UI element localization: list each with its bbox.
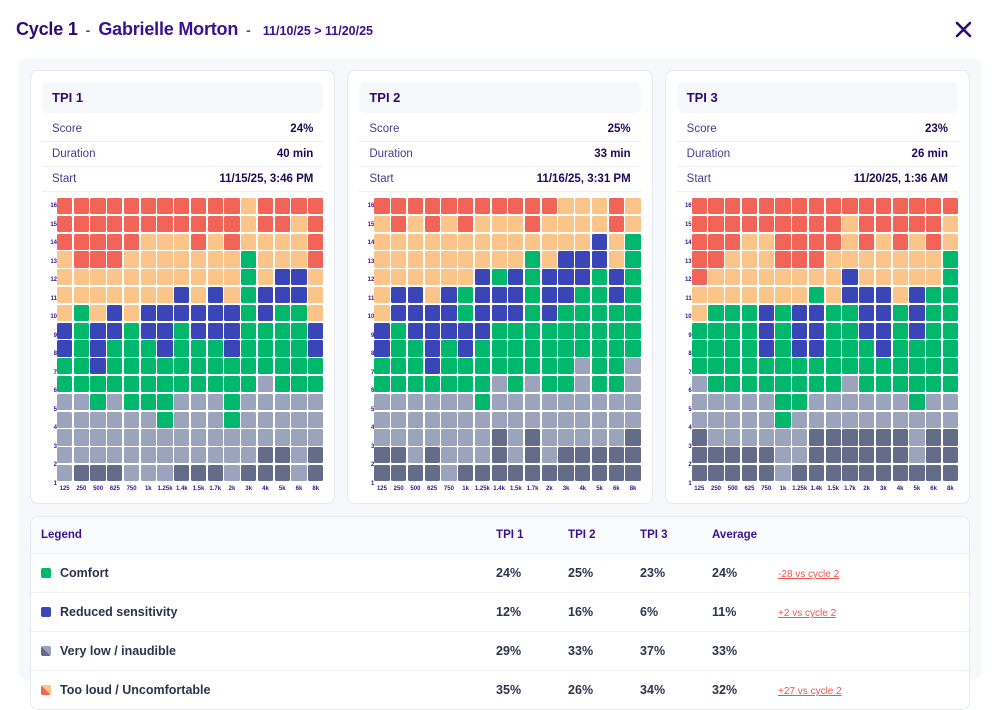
heat-cell [74, 429, 89, 445]
heat-cell [708, 447, 723, 463]
heat-cell [425, 305, 440, 321]
heat-cell [124, 447, 139, 463]
heat-cell [842, 429, 857, 445]
heat-cell [475, 251, 490, 267]
heat-cell [291, 323, 306, 339]
heat-cell [826, 394, 841, 410]
heat-cell [74, 340, 89, 356]
heat-cell [107, 429, 122, 445]
y-axis-tick: 9 [359, 328, 374, 344]
y-axis-tick: 15 [677, 217, 692, 233]
heat-cell [859, 287, 874, 303]
heat-cell [174, 394, 189, 410]
heat-cell [859, 216, 874, 232]
y-axis-tick: 6 [359, 383, 374, 399]
heat-cell [90, 198, 105, 214]
heat-cell [625, 216, 640, 232]
heat-cell [725, 305, 740, 321]
heat-cell [575, 447, 590, 463]
heat-cell [408, 323, 423, 339]
heat-cell [107, 447, 122, 463]
heat-cell [191, 429, 206, 445]
heat-cell [809, 394, 824, 410]
legend-delta-link[interactable]: -28 vs cycle 2 [778, 569, 839, 580]
heat-cell [425, 198, 440, 214]
heat-cell [542, 376, 557, 392]
y-axis-tick: 7 [359, 365, 374, 381]
heat-cell [826, 251, 841, 267]
y-axis-tick: 16 [42, 198, 57, 214]
heat-cell [893, 376, 908, 392]
heat-cell [374, 429, 389, 445]
heat-cell [57, 287, 72, 303]
heat-cell [708, 198, 723, 214]
heat-cell [157, 269, 172, 285]
heat-cell [224, 198, 239, 214]
heat-cell [191, 216, 206, 232]
heat-cell [625, 251, 640, 267]
heat-cell [725, 412, 740, 428]
heat-cell [224, 447, 239, 463]
heat-cell [74, 376, 89, 392]
heat-cell [759, 447, 774, 463]
heat-cell [859, 340, 874, 356]
heat-cell [492, 251, 507, 267]
tpi-chart-2-y-axis: 16151413121110987654321 [359, 198, 374, 492]
heat-cell [575, 412, 590, 428]
heat-cell [458, 269, 473, 285]
tpi-card-2-duration-value: 33 min [594, 148, 630, 160]
x-axis-tick: 8k [943, 486, 958, 492]
heat-cell [241, 429, 256, 445]
x-axis-tick: 2k [859, 486, 874, 492]
heat-cell [475, 358, 490, 374]
heat-cell [775, 376, 790, 392]
heat-cell [374, 394, 389, 410]
heat-cell [893, 234, 908, 250]
x-axis-tick: 1.25k [475, 486, 490, 492]
heat-cell [157, 465, 172, 481]
heat-cell [208, 305, 223, 321]
tpi-chart-2-grid [374, 198, 640, 481]
heat-cell [809, 216, 824, 232]
heat-cell [909, 234, 924, 250]
heat-cell [157, 358, 172, 374]
heat-cell [558, 465, 573, 481]
heat-cell [759, 287, 774, 303]
x-axis-tick: 500 [90, 486, 105, 492]
heat-cell [792, 429, 807, 445]
tpi-chart-3-y-axis: 16151413121110987654321 [677, 198, 692, 492]
heat-cell [241, 269, 256, 285]
heat-cell [708, 287, 723, 303]
heat-cell [575, 251, 590, 267]
heat-cell [74, 251, 89, 267]
legend-row: Reduced sensitivity12%16%6%11%+2 vs cycl… [31, 593, 969, 632]
heat-cell [174, 376, 189, 392]
heat-cell [458, 429, 473, 445]
y-axis-tick: 15 [359, 217, 374, 233]
heat-cell [374, 234, 389, 250]
heat-cell [558, 234, 573, 250]
heat-cell [107, 376, 122, 392]
heat-cell [575, 305, 590, 321]
heat-cell [492, 394, 507, 410]
heat-cell [625, 412, 640, 428]
heat-cell [759, 394, 774, 410]
heat-cell [943, 465, 958, 481]
heat-cell [708, 216, 723, 232]
heat-cell [792, 358, 807, 374]
heat-cell [625, 287, 640, 303]
heat-cell [308, 412, 323, 428]
heat-cell [943, 198, 958, 214]
heat-cell [809, 198, 824, 214]
heat-cell [943, 376, 958, 392]
heat-cell [742, 429, 757, 445]
heat-cell [458, 465, 473, 481]
heat-cell [775, 323, 790, 339]
heat-cell [107, 394, 122, 410]
heat-cell [859, 394, 874, 410]
x-axis-tick: 8k [308, 486, 323, 492]
heat-cell [542, 412, 557, 428]
heat-cell [57, 251, 72, 267]
heat-cell [909, 465, 924, 481]
heat-cell [74, 412, 89, 428]
heat-cell [391, 465, 406, 481]
heat-cell [525, 216, 540, 232]
heat-cell [425, 412, 440, 428]
heat-cell [208, 234, 223, 250]
heat-cell [141, 429, 156, 445]
y-axis-tick: 15 [42, 217, 57, 233]
heat-cell [275, 412, 290, 428]
tpi-card-2-title: TPI 2 [369, 90, 630, 105]
heat-cell [592, 358, 607, 374]
heat-cell [742, 358, 757, 374]
heat-cell [558, 251, 573, 267]
heat-cell [408, 465, 423, 481]
heat-cell [625, 358, 640, 374]
heat-cell [893, 269, 908, 285]
heat-cell [74, 287, 89, 303]
heat-cell [157, 447, 172, 463]
y-axis-tick: 8 [677, 346, 692, 362]
heat-cell [90, 358, 105, 374]
x-axis-tick: 125 [692, 486, 707, 492]
heat-cell [291, 429, 306, 445]
heat-cell [725, 465, 740, 481]
y-axis-tick: 11 [677, 291, 692, 307]
heat-cell [625, 394, 640, 410]
heat-cell [909, 305, 924, 321]
heat-cell [391, 412, 406, 428]
heat-cell [708, 394, 723, 410]
close-button[interactable] [948, 15, 978, 45]
heat-cell [725, 323, 740, 339]
tpi-card-3-duration-value: 26 min [912, 148, 948, 160]
heat-cell [425, 251, 440, 267]
heat-cell [525, 198, 540, 214]
heat-cell [909, 358, 924, 374]
heat-cell [893, 394, 908, 410]
heat-cell [258, 429, 273, 445]
heat-cell [525, 447, 540, 463]
heat-cell [926, 358, 941, 374]
tpi-card-3-start-row: Start 11/20/25, 1:36 AM [677, 167, 958, 192]
heat-cell [692, 198, 707, 214]
heat-cell [708, 305, 723, 321]
y-axis-tick: 7 [677, 365, 692, 381]
y-axis-tick: 3 [677, 439, 692, 455]
heat-cell [258, 234, 273, 250]
legend-delta-link[interactable]: +27 vs cycle 2 [778, 686, 842, 697]
tpi-cards-row: TPI 1 Score 24% Duration 40 min Start 11… [18, 58, 982, 504]
heat-cell [141, 394, 156, 410]
heat-cell [542, 305, 557, 321]
heat-cell [926, 394, 941, 410]
x-axis-tick: 5k [275, 486, 290, 492]
heat-cell [809, 251, 824, 267]
heat-cell [291, 234, 306, 250]
heat-cell [876, 287, 891, 303]
legend-col-tpi2: TPI 2 [558, 517, 630, 554]
heat-cell [124, 394, 139, 410]
heat-cell [291, 412, 306, 428]
heat-cell [893, 340, 908, 356]
heat-cell [909, 216, 924, 232]
legend-delta-link[interactable]: +2 vs cycle 2 [778, 608, 836, 619]
heat-cell [708, 251, 723, 267]
heat-cell [141, 376, 156, 392]
heat-cell [157, 234, 172, 250]
legend-value-tpi3: 6% [630, 593, 702, 632]
heat-cell [208, 447, 223, 463]
heat-cell [592, 269, 607, 285]
heat-cell [558, 358, 573, 374]
heat-cell [107, 216, 122, 232]
heat-cell [291, 269, 306, 285]
tpi-card-1: TPI 1 Score 24% Duration 40 min Start 11… [30, 70, 335, 504]
heat-cell [876, 447, 891, 463]
heat-cell [859, 376, 874, 392]
heat-cell [558, 376, 573, 392]
y-axis-tick: 14 [359, 235, 374, 251]
heat-cell [542, 251, 557, 267]
x-axis-tick: 1.4k [809, 486, 824, 492]
x-axis-tick: 8k [625, 486, 640, 492]
heat-cell [525, 340, 540, 356]
tpi-card-1-title: TPI 1 [52, 90, 313, 105]
heat-cell [826, 340, 841, 356]
tpi-card-3-score-row: Score 23% [677, 117, 958, 142]
heat-cell [475, 287, 490, 303]
heat-cell [826, 429, 841, 445]
x-axis-tick: 1.4k [174, 486, 189, 492]
legend-delta-cell [768, 632, 969, 671]
heat-cell [508, 447, 523, 463]
heat-cell [876, 340, 891, 356]
heat-cell [458, 358, 473, 374]
heat-cell [124, 216, 139, 232]
heat-cell [525, 465, 540, 481]
legend-delta-cell: +27 vs cycle 2 [768, 671, 969, 710]
heat-cell [692, 412, 707, 428]
heat-cell [174, 216, 189, 232]
heat-cell [275, 429, 290, 445]
heat-cell [842, 323, 857, 339]
heat-cell [57, 216, 72, 232]
heat-cell [508, 216, 523, 232]
heat-cell [291, 305, 306, 321]
heat-cell [208, 429, 223, 445]
heat-cell [90, 251, 105, 267]
heat-cell [308, 429, 323, 445]
heat-cell [708, 340, 723, 356]
heat-cell [308, 198, 323, 214]
heat-cell [291, 287, 306, 303]
heat-cell [826, 447, 841, 463]
heat-cell [708, 269, 723, 285]
heat-cell [157, 323, 172, 339]
heat-cell [57, 305, 72, 321]
heat-cell [157, 412, 172, 428]
heat-cell [943, 305, 958, 321]
heat-cell [625, 323, 640, 339]
y-axis-tick: 12 [42, 272, 57, 288]
heat-cell [759, 269, 774, 285]
heat-cell [374, 465, 389, 481]
heat-cell [592, 394, 607, 410]
heat-cell [74, 323, 89, 339]
heat-cell [157, 376, 172, 392]
x-axis-tick: 125 [374, 486, 389, 492]
title-date-range: 11/10/25 > 11/20/25 [263, 24, 373, 38]
heat-cell [775, 429, 790, 445]
heat-cell [107, 269, 122, 285]
heat-cell [107, 305, 122, 321]
heat-cell [441, 216, 456, 232]
legend-value-tpi1: 24% [486, 554, 558, 593]
heat-cell [742, 216, 757, 232]
heat-cell [575, 340, 590, 356]
heat-cell [809, 429, 824, 445]
heat-cell [542, 198, 557, 214]
x-axis-tick: 1.25k [157, 486, 172, 492]
x-axis-tick: 4k [575, 486, 590, 492]
heat-cell [742, 447, 757, 463]
y-axis-tick: 12 [359, 272, 374, 288]
heat-cell [775, 251, 790, 267]
heat-cell [174, 198, 189, 214]
heat-cell [943, 429, 958, 445]
title-patient-name: Gabrielle Morton [98, 19, 238, 40]
heat-cell [441, 465, 456, 481]
heat-cell [258, 376, 273, 392]
heat-cell [191, 447, 206, 463]
heat-cell [475, 234, 490, 250]
heat-cell [592, 216, 607, 232]
close-icon [954, 20, 973, 39]
heat-cell [542, 234, 557, 250]
heat-cell [792, 287, 807, 303]
heat-cell [90, 412, 105, 428]
heat-cell [57, 323, 72, 339]
tpi-card-2-score-row: Score 25% [359, 117, 640, 142]
heat-cell [893, 251, 908, 267]
heat-cell [842, 465, 857, 481]
heat-cell [708, 234, 723, 250]
y-axis-tick: 14 [677, 235, 692, 251]
heat-cell [441, 376, 456, 392]
y-axis-tick: 7 [42, 365, 57, 381]
heat-cell [558, 216, 573, 232]
heat-cell [224, 429, 239, 445]
heat-cell [725, 429, 740, 445]
heat-cell [558, 447, 573, 463]
heat-cell [124, 305, 139, 321]
heat-cell [425, 269, 440, 285]
heat-cell [725, 269, 740, 285]
heat-cell [809, 340, 824, 356]
y-axis-tick: 8 [359, 346, 374, 362]
heat-cell [609, 251, 624, 267]
heat-cell [492, 376, 507, 392]
heat-cell [374, 216, 389, 232]
heat-cell [492, 323, 507, 339]
heat-cell [224, 376, 239, 392]
heat-cell [191, 251, 206, 267]
legend-value-tpi2: 33% [558, 632, 630, 671]
legend-row-name: Too loud / Uncomfortable [31, 671, 486, 710]
heat-cell [842, 394, 857, 410]
heat-cell [241, 323, 256, 339]
legend-col-tpi3: TPI 3 [630, 517, 702, 554]
heat-cell [558, 394, 573, 410]
y-axis-tick: 5 [359, 402, 374, 418]
heat-cell [826, 216, 841, 232]
heat-cell [742, 287, 757, 303]
heat-cell [291, 447, 306, 463]
heat-cell [291, 198, 306, 214]
x-axis-tick: 4k [258, 486, 273, 492]
heat-cell [124, 429, 139, 445]
heat-cell [391, 394, 406, 410]
heat-cell [625, 198, 640, 214]
x-axis-tick: 1.5k [826, 486, 841, 492]
heat-cell [258, 198, 273, 214]
legend-value-tpi1: 29% [486, 632, 558, 671]
heat-cell [909, 376, 924, 392]
heat-cell [475, 340, 490, 356]
heat-cell [759, 305, 774, 321]
tpi-card-3-title: TPI 3 [687, 90, 948, 105]
heat-cell [792, 376, 807, 392]
heat-cell [792, 251, 807, 267]
tpi-card-2-duration-label: Duration [369, 148, 412, 160]
tpi-card-1-score-row: Score 24% [42, 117, 323, 142]
heat-cell [124, 234, 139, 250]
heat-cell [107, 287, 122, 303]
heat-cell [90, 394, 105, 410]
heat-cell [592, 198, 607, 214]
heat-cell [374, 251, 389, 267]
legend-row-name: Comfort [31, 554, 486, 593]
x-axis-tick: 750 [441, 486, 456, 492]
heat-cell [492, 340, 507, 356]
heat-cell [57, 376, 72, 392]
